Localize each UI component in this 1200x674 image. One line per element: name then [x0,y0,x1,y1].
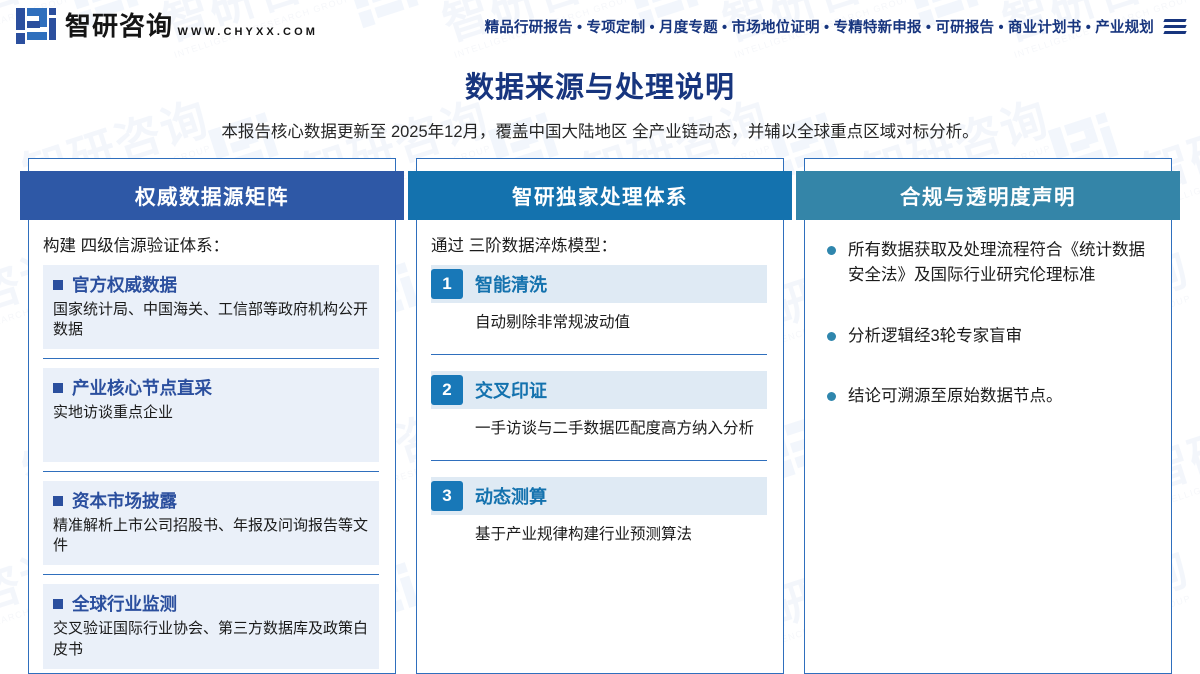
divider [431,354,767,355]
divider [43,358,379,359]
card-header-processing-system: 智研独家处理体系 [408,171,792,220]
compliance-bullet: 所有数据获取及处理流程符合《统计数据安全法》及国际行业研究伦理标准 [827,238,1149,288]
compliance-bullet: 结论可溯源至原始数据节点。 [827,384,1149,409]
compliance-bullet: 分析逻辑经3轮专家盲审 [827,324,1149,349]
title-section: 数据来源与处理说明 本报告核心数据更新至 2025年12月，覆盖中国大陆地区 全… [0,64,1200,142]
brand-website: WWW.CHYXX.COM [177,26,318,38]
source-item-title-row: 全球行业监测 [53,591,369,616]
card-header-compliance: 合规与透明度声明 [796,171,1180,220]
source-item-desc: 精准解析上市公司招股书、年报及问询报告等文件 [53,516,369,556]
process-step[interactable]: 3 动态测算 基于产业规律构建行业预测算法 [431,477,767,546]
card-header-data-sources: 权威数据源矩阵 [20,171,404,220]
divider [43,574,379,575]
page-title: 数据来源与处理说明 [0,64,1200,106]
stacked-bars-icon[interactable] [1164,19,1186,34]
divider [43,471,379,472]
source-item-title: 官方权威数据 [72,272,177,297]
square-bullet-icon [53,383,63,393]
divider [431,460,767,461]
process-step-title: 动态测算 [475,483,547,509]
source-item[interactable]: 资本市场披露 精准解析上市公司招股书、年报及问询报告等文件 [43,481,379,565]
square-bullet-icon [53,280,63,290]
process-step-head: 2 交叉印证 [431,371,767,409]
process-step-title: 交叉印证 [475,377,547,403]
brand-logo[interactable]: 智研咨询 WWW.CHYXX.COM [16,8,318,44]
square-bullet-icon [53,496,63,506]
process-step[interactable]: 2 交叉印证 一手访谈与二手数据匹配度高方纳入分析 [431,371,767,440]
source-item-title: 资本市场披露 [72,488,177,513]
compliance-bullet-text: 分析逻辑经3轮专家盲审 [848,324,1022,349]
step-number-badge: 2 [431,375,463,405]
dot-bullet-icon [827,246,836,255]
card-body-compliance: 所有数据获取及处理流程符合《统计数据安全法》及国际行业研究伦理标准 分析逻辑经3… [805,220,1171,673]
process-step-desc: 基于产业规律构建行业预测算法 [475,525,767,546]
source-item[interactable]: 全球行业监测 交叉验证国际行业协会、第三方数据库及政策白皮书 [43,584,379,668]
card1-lead: 构建 四级信源验证体系： [43,232,379,256]
card-body-data-sources: 构建 四级信源验证体系： 官方权威数据 国家统计局、中国海关、工信部等政府机构公… [29,220,395,673]
source-item-title-row: 资本市场披露 [53,488,369,513]
header-tagline-text: 精品行研报告 • 专项定制 • 月度专题 • 市场地位证明 • 专精特新申报 •… [485,16,1154,37]
process-step-desc: 一手访谈与二手数据匹配度高方纳入分析 [475,419,767,440]
cards-row: 权威数据源矩阵 构建 四级信源验证体系： 官方权威数据 国家统计局、中国海关、工… [0,142,1200,674]
source-item-title: 全球行业监测 [72,591,177,616]
source-item-title: 产业核心节点直采 [72,375,212,400]
card-data-sources: 权威数据源矩阵 构建 四级信源验证体系： 官方权威数据 国家统计局、中国海关、工… [28,158,396,674]
square-bullet-icon [53,599,63,609]
card-body-processing-system: 通过 三阶数据淬炼模型： 1 智能清洗 自动剔除非常规波动值 2 交叉印证 一手… [417,220,783,673]
card-compliance-statement: 合规与透明度声明 所有数据获取及处理流程符合《统计数据安全法》及国际行业研究伦理… [804,158,1172,674]
process-step-head: 3 动态测算 [431,477,767,515]
process-step[interactable]: 1 智能清洗 自动剔除非常规波动值 [431,265,767,334]
card-processing-system: 智研独家处理体系 通过 三阶数据淬炼模型： 1 智能清洗 自动剔除非常规波动值 … [416,158,784,674]
compliance-bullet-text: 所有数据获取及处理流程符合《统计数据安全法》及国际行业研究伦理标准 [848,238,1149,288]
header-tagline: 精品行研报告 • 专项定制 • 月度专题 • 市场地位证明 • 专精特新申报 •… [485,16,1186,37]
source-item-desc: 实地访谈重点企业 [53,403,369,423]
compliance-bullet-text: 结论可溯源至原始数据节点。 [848,384,1063,409]
process-step-desc: 自动剔除非常规波动值 [475,313,767,334]
dot-bullet-icon [827,392,836,401]
step-number-badge: 1 [431,269,463,299]
zhiyan-logo-icon [16,8,56,44]
source-item-title-row: 产业核心节点直采 [53,375,369,400]
source-item[interactable]: 官方权威数据 国家统计局、中国海关、工信部等政府机构公开数据 [43,265,379,349]
brand-name-cn: 智研咨询 [65,11,173,41]
process-step-head: 1 智能清洗 [431,265,767,303]
source-item[interactable]: 产业核心节点直采 实地访谈重点企业 [43,368,379,462]
step-number-badge: 3 [431,481,463,511]
source-item-desc: 国家统计局、中国海关、工信部等政府机构公开数据 [53,300,369,340]
dot-bullet-icon [827,332,836,341]
process-step-title: 智能清洗 [475,271,547,297]
page-subtitle: 本报告核心数据更新至 2025年12月，覆盖中国大陆地区 全产业链动态，并辅以全… [0,118,1200,142]
site-header: 智研咨询 WWW.CHYXX.COM 精品行研报告 • 专项定制 • 月度专题 … [0,0,1200,52]
source-item-desc: 交叉验证国际行业协会、第三方数据库及政策白皮书 [53,619,369,659]
card2-lead: 通过 三阶数据淬炼模型： [431,232,767,256]
source-item-title-row: 官方权威数据 [53,272,369,297]
